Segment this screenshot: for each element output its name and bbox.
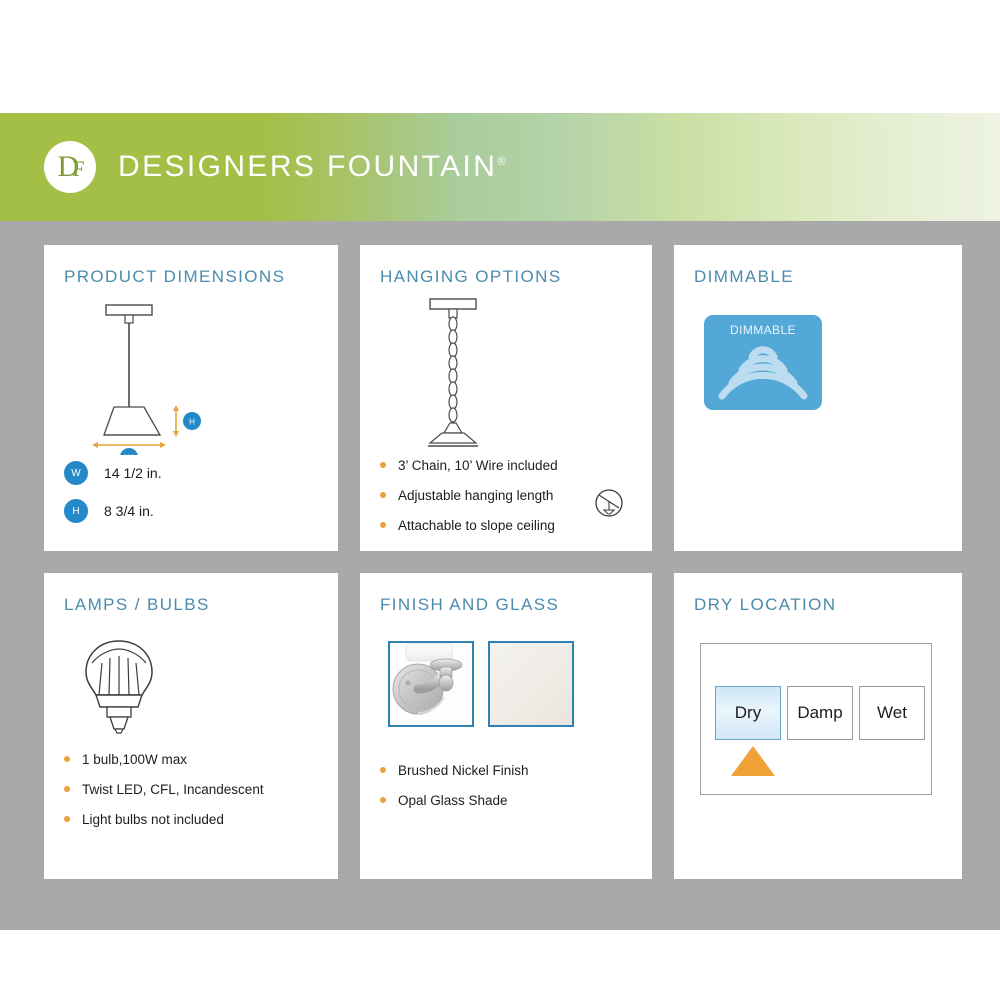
list-item: 3’ Chain, 10’ Wire included bbox=[380, 458, 632, 474]
selected-location-pointer-icon bbox=[731, 746, 775, 776]
height-badge-icon: H bbox=[64, 499, 88, 523]
panel-title-hanging-options: HANGING OPTIONS bbox=[380, 267, 632, 287]
location-rating-diagram: Dry Damp Wet bbox=[700, 643, 932, 795]
designers-fountain-logo-icon: DF bbox=[44, 141, 96, 193]
list-item: 1 bulb,100W max bbox=[64, 752, 318, 768]
list-item: Opal Glass Shade bbox=[380, 793, 632, 809]
dimension-row-height: H 8 3/4 in. bbox=[64, 499, 318, 523]
brushed-nickel-swatch[interactable] bbox=[388, 641, 474, 727]
slope-ceiling-icon bbox=[592, 486, 626, 525]
dimmable-badge-icon: DIMMABLE bbox=[704, 315, 822, 410]
panel-hanging-options: HANGING OPTIONS bbox=[360, 245, 652, 551]
svg-text:W: W bbox=[125, 454, 133, 456]
width-value: 14 1/2 in. bbox=[104, 465, 162, 481]
panel-title-lamps-bulbs: LAMPS / BULBS bbox=[64, 595, 318, 615]
chain-hung-fixture-drawing bbox=[408, 293, 632, 458]
panel-dimmable: DIMMABLE DIMMABLE bbox=[674, 245, 962, 551]
location-option-group: Dry Damp Wet bbox=[715, 686, 925, 740]
dimension-value-list: W 14 1/2 in. H 8 3/4 in. bbox=[64, 461, 318, 523]
width-badge-icon: W bbox=[64, 461, 88, 485]
finish-swatch-group bbox=[388, 641, 632, 727]
list-item: Brushed Nickel Finish bbox=[380, 763, 632, 779]
panel-finish-and-glass: FINISH AND GLASS bbox=[360, 573, 652, 879]
panel-product-dimensions: PRODUCT DIMENSIONS bbox=[44, 245, 338, 551]
list-item: Twist LED, CFL, Incandescent bbox=[64, 782, 318, 798]
height-value: 8 3/4 in. bbox=[104, 503, 154, 519]
brand-name: DESIGNERS FOUNTAIN® bbox=[118, 150, 505, 184]
svg-text:H: H bbox=[189, 418, 195, 427]
dimension-row-width: W 14 1/2 in. bbox=[64, 461, 318, 485]
panel-title-dry-location: DRY LOCATION bbox=[694, 595, 942, 615]
list-item: Light bulbs not included bbox=[64, 812, 318, 828]
finish-bullet-list: Brushed Nickel Finish Opal Glass Shade bbox=[380, 763, 632, 809]
light-bulb-drawing bbox=[76, 633, 318, 742]
logo-monogram: DF bbox=[58, 152, 83, 182]
registered-trademark-mark: ® bbox=[497, 156, 505, 168]
product-spec-sheet: DF DESIGNERS FOUNTAIN® PRODUCT DIMENSION… bbox=[0, 0, 1000, 1000]
brand-header-banner: DF DESIGNERS FOUNTAIN® bbox=[0, 113, 1000, 221]
location-option-dry[interactable]: Dry bbox=[715, 686, 781, 740]
panel-title-product-dimensions: PRODUCT DIMENSIONS bbox=[64, 267, 318, 287]
panel-title-finish-and-glass: FINISH AND GLASS bbox=[380, 595, 632, 615]
spec-panels-area: PRODUCT DIMENSIONS bbox=[0, 221, 1000, 930]
location-option-damp[interactable]: Damp bbox=[787, 686, 853, 740]
opal-glass-swatch[interactable] bbox=[488, 641, 574, 727]
pendant-light-dimension-drawing: H W bbox=[64, 295, 318, 455]
spec-panel-grid: PRODUCT DIMENSIONS bbox=[44, 245, 962, 879]
panel-dry-location: DRY LOCATION Dry Damp Wet bbox=[674, 573, 962, 879]
lamps-bullet-list: 1 bulb,100W max Twist LED, CFL, Incandes… bbox=[64, 752, 318, 829]
panel-title-dimmable: DIMMABLE bbox=[694, 267, 942, 287]
location-option-wet[interactable]: Wet bbox=[859, 686, 925, 740]
panel-lamps-bulbs: LAMPS / BULBS bbox=[44, 573, 338, 879]
